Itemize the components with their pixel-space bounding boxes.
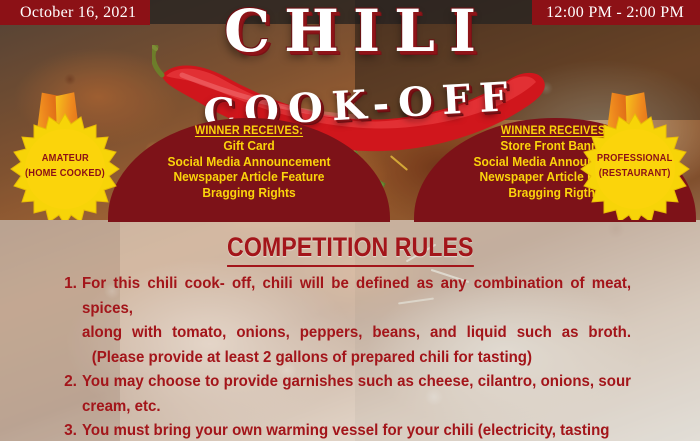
rule-line: For this chili cook- off, chili will be … — [82, 272, 631, 321]
amateur-badge: AMATEUR (HOME COOKED) — [10, 112, 120, 220]
professional-badge-line2: (RESTAURANT) — [599, 166, 671, 181]
amateur-badge-line1: AMATEUR — [41, 151, 88, 166]
amateur-prize-item: Bragging Rights — [114, 186, 385, 202]
rules-heading-text: COMPETITION RULES — [227, 232, 473, 267]
professional-badge-label: PROFESSIONAL (RESTAURANT) — [580, 112, 690, 220]
rule-body: For this chili cook- off, chili will be … — [82, 272, 631, 370]
rule-number: 1. — [60, 272, 82, 370]
event-date: October 16, 2021 — [20, 4, 136, 22]
rule-item: 2. You may choose to provide garnishes s… — [60, 370, 648, 419]
event-time: 12:00 PM - 2:00 PM — [546, 4, 684, 22]
rule-line: along with tomato, onions, peppers, bean… — [82, 321, 631, 346]
rule-number: 2. — [60, 370, 82, 419]
amateur-prize-item: Gift Card — [114, 139, 385, 155]
rule-item: 3. You must bring your own warming vesse… — [60, 419, 648, 441]
professional-badge: PROFESSIONAL (RESTAURANT) — [580, 112, 690, 220]
rule-line: cream, etc. — [82, 395, 631, 420]
rule-line: You must bring your own warming vessel f… — [82, 419, 631, 441]
rules-list: 1. For this chili cook- off, chili will … — [60, 272, 648, 441]
rule-item: 1. For this chili cook- off, chili will … — [60, 272, 648, 370]
rule-line: (Please provide at least 2 gallons of pr… — [82, 346, 631, 371]
amateur-prizes-panel: WINNER RECEIVES: Gift Card Social Media … — [108, 118, 390, 222]
amateur-badge-line2: (HOME COOKED) — [25, 166, 105, 181]
professional-badge-line1: PROFESSIONAL — [597, 151, 673, 166]
rule-body: You must bring your own warming vessel f… — [82, 419, 631, 441]
event-time-bar: 12:00 PM - 2:00 PM — [532, 0, 700, 25]
amateur-badge-label: AMATEUR (HOME COOKED) — [10, 112, 120, 220]
amateur-prizes-heading: WINNER RECEIVES: — [116, 125, 381, 137]
rule-number: 3. — [60, 419, 82, 441]
poster-canvas: October 16, 2021 12:00 PM - 2:00 PM CHIL… — [0, 0, 700, 441]
rule-line: You may choose to provide garnishes such… — [82, 370, 631, 395]
rules-heading: COMPETITION RULES — [0, 232, 700, 267]
amateur-prize-item: Newspaper Article Feature — [114, 170, 385, 186]
amateur-prize-item: Social Media Announcement — [114, 155, 385, 171]
event-date-bar: October 16, 2021 — [0, 0, 150, 25]
rule-body: You may choose to provide garnishes such… — [82, 370, 631, 419]
